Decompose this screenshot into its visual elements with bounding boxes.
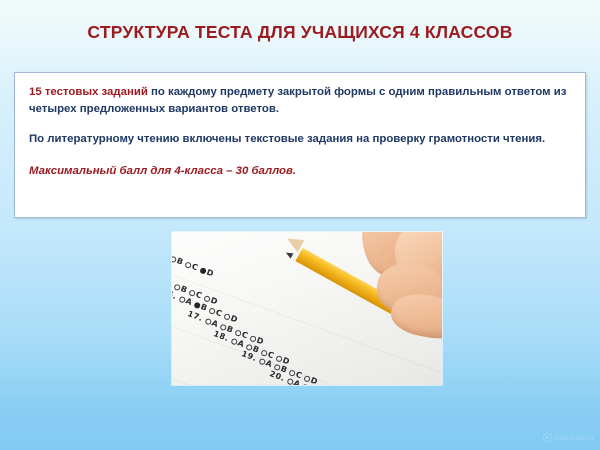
content-textbox: 15 тестовых заданий по каждому предмету … (14, 72, 586, 218)
paragraph-3-max-score: Максимальный балл для 4-класса – 30 балл… (29, 163, 571, 180)
watermark: Infourok.ru (543, 433, 594, 442)
answer-row-number: 20. (268, 369, 286, 383)
answer-letter: C (190, 262, 199, 273)
paragraph-1: 15 тестовых заданий по каждому предмету … (29, 84, 571, 118)
photo-paper-background: 14.ABCD15.ABCD16.ABCD17.ABCD18.ABCD19.AB… (172, 232, 442, 385)
answer-letter: B (175, 256, 184, 267)
answer-row-number: 18. (212, 329, 230, 343)
answer-row-number: 17. (186, 309, 204, 323)
paragraph-1-lead: 15 тестовых заданий (29, 86, 148, 98)
hand-with-pencil (325, 232, 442, 339)
answer-letter: B (307, 384, 316, 385)
answer-sheet-photo: 14.ABCD15.ABCD16.ABCD17.ABCD18.ABCD19.AB… (172, 232, 442, 385)
answer-letter: D (205, 267, 214, 278)
watermark-logo-icon (543, 433, 552, 442)
answer-bubble (301, 383, 309, 385)
answer-row-number: 19. (240, 349, 258, 363)
answer-row: 14.ABCD (172, 233, 218, 280)
paragraph-2: По литературному чтению включены текстов… (29, 131, 571, 148)
watermark-text: Infourok.ru (555, 433, 594, 442)
answer-row-number: 16. (172, 287, 178, 301)
page-title: СТРУКТУРА ТЕСТА ДЛЯ УЧАЩИХСЯ 4 КЛАССОВ (0, 22, 600, 43)
slide-canvas: СТРУКТУРА ТЕСТА ДЛЯ УЧАЩИХСЯ 4 КЛАССОВ 1… (0, 0, 600, 450)
pencil-lead-icon (284, 250, 293, 259)
answer-letter: A (292, 378, 301, 385)
